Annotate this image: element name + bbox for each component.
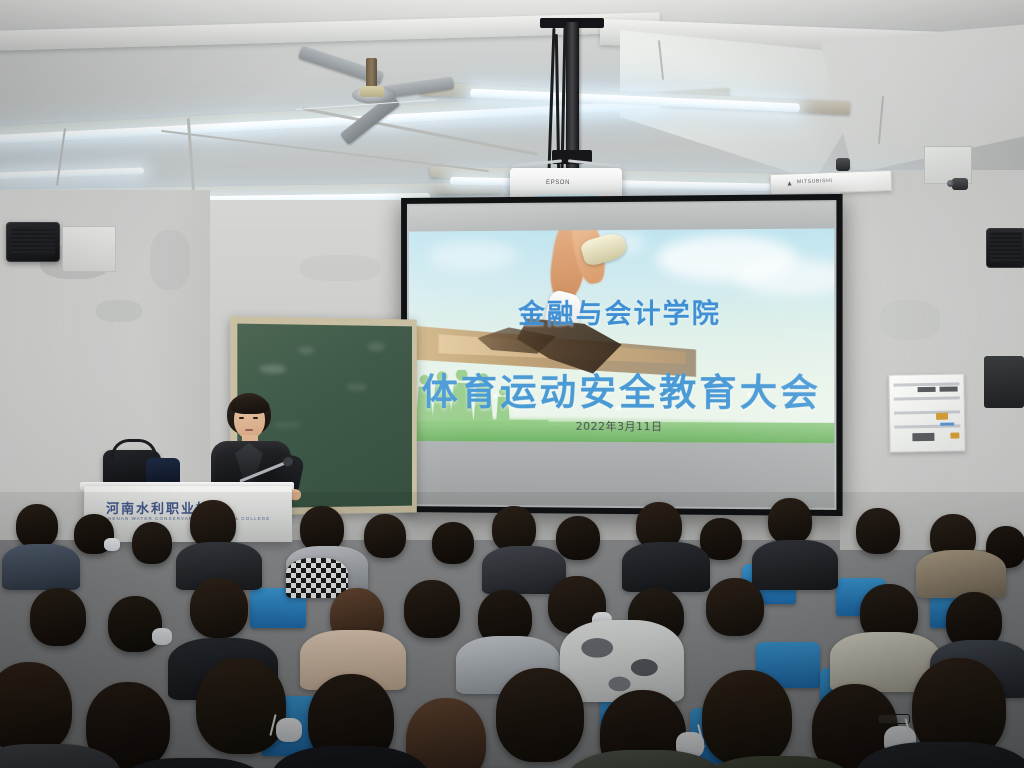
ceiling-fan-icon <box>296 58 466 120</box>
right-wall-speaker <box>986 228 1024 268</box>
audience-head <box>706 578 764 636</box>
screen-blank-band <box>409 202 834 231</box>
screen-housing-brand: MITSUBISHI <box>797 178 833 185</box>
audience-head <box>432 522 474 564</box>
ceiling-beam-diagonal <box>820 24 1024 174</box>
audience-head <box>0 662 72 754</box>
audience-head <box>196 658 286 754</box>
wall-stain <box>300 255 380 281</box>
presenter-eye <box>253 417 258 419</box>
audience-head <box>364 514 406 558</box>
audience-shoulders-checkered <box>286 558 348 598</box>
audience-head <box>190 500 236 548</box>
mitsubishi-logo-icon: ▲ <box>786 180 794 187</box>
speaker-grill <box>990 232 1022 263</box>
audience-shoulders <box>2 544 80 590</box>
audience-head <box>496 668 584 762</box>
audience-shoulders <box>752 540 838 590</box>
audience-shoulders-patterned <box>560 620 684 702</box>
wall-stain <box>150 230 190 290</box>
projector-brand-label: EPSON <box>546 180 570 186</box>
audience-head <box>132 522 172 564</box>
slide-organization-title: 金融与会计学院 <box>409 291 834 331</box>
audience-shoulders <box>916 550 1006 598</box>
face-mask <box>104 538 120 551</box>
audience-head <box>404 580 460 638</box>
audience-head <box>108 596 162 652</box>
wall-notice-chart <box>888 373 965 452</box>
projection-screen: 金融与会计学院 体育运动安全教育大会 2022年3月11日 <box>401 194 842 516</box>
presenter-eye <box>239 417 244 419</box>
left-wall-speaker <box>6 222 60 262</box>
wall-stain <box>880 300 940 340</box>
bag-handle <box>111 439 157 460</box>
audience-head <box>30 588 86 646</box>
slide-date: 2022年3月11日 <box>409 417 834 435</box>
speaker-grill <box>11 227 55 255</box>
audience-head <box>768 498 812 544</box>
screen-surface: 金融与会计学院 体育运动安全教育大会 2022年3月11日 <box>407 200 836 510</box>
fan-canopy <box>360 86 384 97</box>
presenter-mouth <box>245 429 253 431</box>
audience <box>0 492 1024 768</box>
wall-stain <box>96 300 142 322</box>
wall-camera-icon <box>952 178 968 190</box>
slide-main-title: 体育运动安全教育大会 <box>409 362 834 417</box>
audience-head <box>406 698 486 768</box>
audience-head <box>556 516 600 560</box>
audience-head <box>16 504 58 548</box>
wall-camera-icon <box>836 158 850 171</box>
lecture-hall-photo: ▲ MITSUBISHI EPSON <box>0 0 1024 768</box>
audience-head <box>190 578 248 638</box>
screen-housing: ▲ MITSUBISHI <box>770 170 893 195</box>
right-wall-equipment-box <box>984 356 1024 408</box>
fluorescent-light <box>0 167 144 179</box>
slide-cloud <box>737 259 835 296</box>
audience-head <box>856 508 900 554</box>
wall-panel <box>62 226 116 272</box>
audience-shoulders <box>622 542 710 592</box>
face-mask <box>276 718 302 742</box>
projected-slide: 金融与会计学院 体育运动安全教育大会 2022年3月11日 <box>409 228 834 443</box>
presenter-fringe <box>231 397 269 414</box>
face-mask <box>152 628 172 645</box>
slide-cloud <box>428 241 516 271</box>
audience-head <box>702 670 792 766</box>
